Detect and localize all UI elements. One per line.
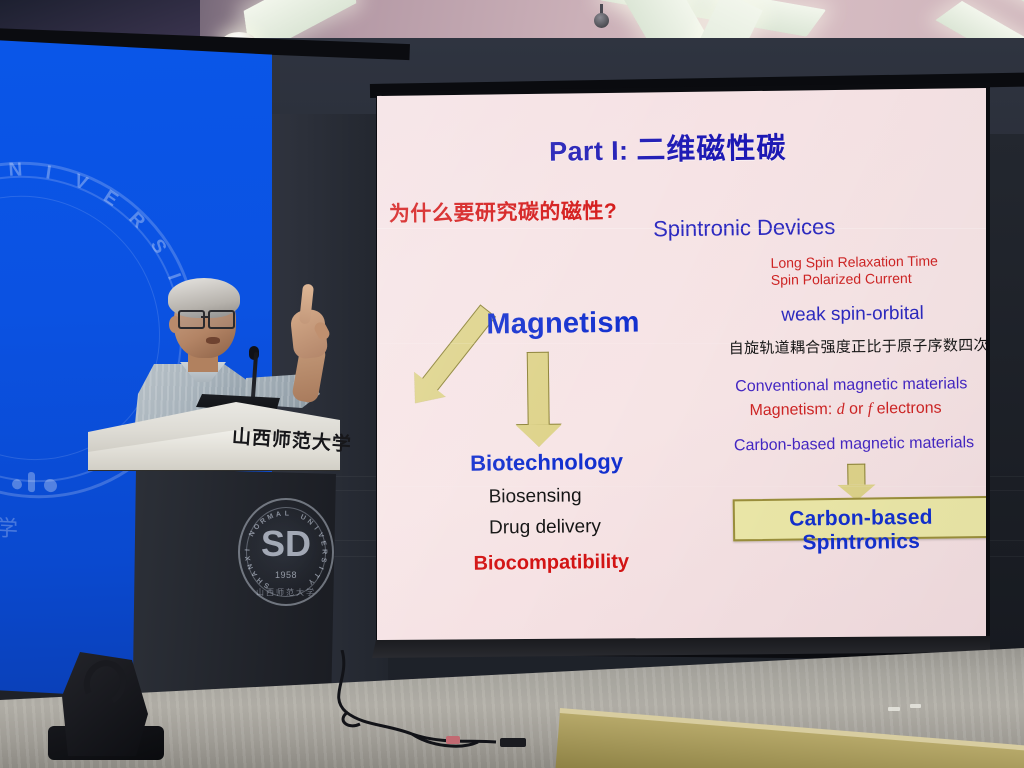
speaker-mouth	[206, 337, 220, 344]
node-magnetism: Magnetism	[486, 307, 640, 342]
red-sub-lines: Long Spin Relaxation Time Spin Polarized…	[770, 253, 938, 289]
result-box-carbon-based-spintronics: Carbon-based Spintronics	[733, 496, 986, 541]
podium-emblem: SHANXI NORMAL UNIVERSITY SD 1958 山西师范大学	[238, 498, 334, 606]
node-biotechnology: Biotechnology	[470, 449, 623, 477]
slide-title: Part I: 二维磁性碳	[549, 125, 787, 170]
bullet-biosensing: Biosensing	[488, 485, 581, 508]
line-weak-spin-orbital: weak spin-orbital	[781, 303, 924, 327]
line-long-spin-relaxation: Long Spin Relaxation Time	[770, 253, 938, 272]
highlight-biocompatibility: Biocompatibility	[473, 551, 629, 576]
slide-question-cn: 为什么要研究碳的磁性?	[389, 195, 618, 228]
cable-connector	[446, 736, 460, 744]
line-cn-spin-orbit: 自旋轨道耦合强度正比于原子序数四次幂	[729, 334, 986, 359]
podium-emblem-monogram: SD	[240, 526, 332, 562]
lecture-hall-photo: NIVERSITY S 大学 Part I: 二维磁性碳 为什么要研究碳的磁性?…	[0, 0, 1024, 768]
line-carbon-based-magnetic-materials: Carbon-based magnetic materials	[734, 434, 974, 455]
emblem-monogram: S	[0, 286, 42, 422]
cable-adapter	[500, 738, 526, 747]
arrow-down-icon	[527, 352, 550, 425]
projection-screen[interactable]: Part I: 二维磁性碳 为什么要研究碳的磁性? Magnetism Biot…	[377, 88, 986, 654]
or-text: or	[845, 401, 868, 418]
electrons-text: electrons	[872, 400, 942, 418]
slide-title-cn: 二维磁性碳	[636, 133, 786, 167]
emblem-cn-text: 大学	[0, 508, 30, 544]
emblem-decoration	[12, 471, 70, 500]
podium-emblem-year: 1958	[240, 570, 332, 580]
bullet-drug-delivery: Drug delivery	[489, 516, 601, 539]
podium-emblem-cn: 山西师范大学	[240, 587, 332, 598]
result-box-label: Carbon-based Spintronics	[735, 505, 986, 556]
eyeglasses-icon	[178, 310, 236, 326]
line-spin-polarized-current: Spin Polarized Current	[771, 270, 939, 289]
magnetism-label: Magnetism:	[749, 401, 832, 419]
presentation-slide: Part I: 二维磁性碳 为什么要研究碳的磁性? Magnetism Biot…	[377, 88, 986, 654]
line-magnetism-electrons: Magnetism: d or f electrons	[749, 400, 941, 421]
smoke-detector-icon	[594, 13, 609, 28]
line-conventional-magnetic-materials: Conventional magnetic materials	[735, 375, 967, 396]
diagonal-arrow-up-right-icon	[418, 304, 496, 395]
slide-title-en: Part I:	[549, 136, 629, 167]
arrow-down-small-icon	[847, 464, 865, 485]
